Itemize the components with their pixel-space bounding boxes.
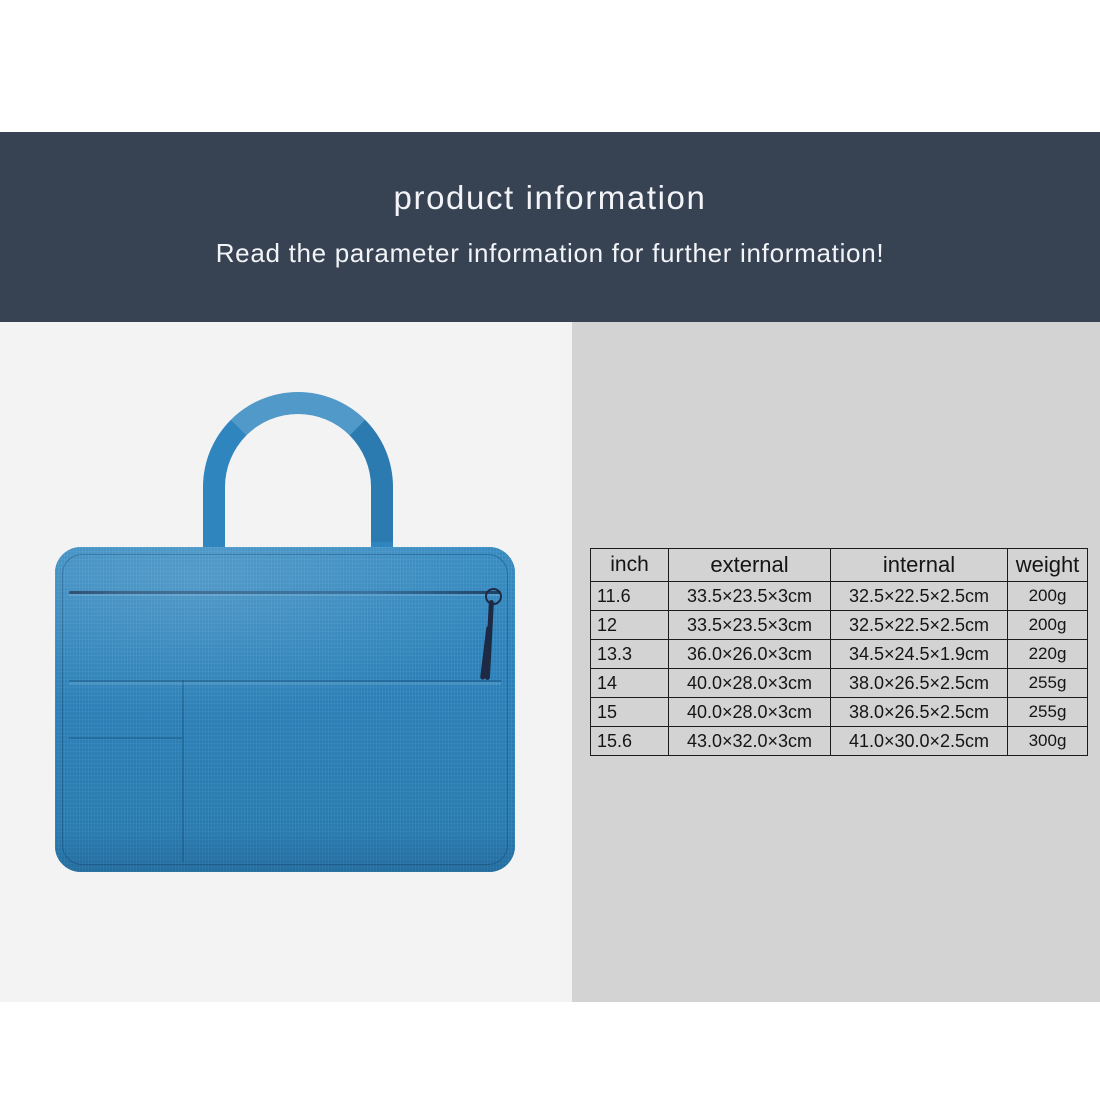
cell-internal: 34.5×24.5×1.9cm [831, 640, 1008, 669]
cell-external: 40.0×28.0×3cm [669, 669, 831, 698]
cell-weight: 300g [1008, 727, 1088, 756]
page-subtitle: Read the parameter information for furth… [0, 236, 1100, 270]
bag-piping-edge [62, 554, 508, 865]
header-banner: product information Read the parameter i… [0, 132, 1100, 322]
bag-pocket-divider-seam [182, 680, 184, 862]
table-row: 11.6 33.5×23.5×3cm 32.5×22.5×2.5cm 200g [591, 582, 1088, 611]
bag-top-zipper-seam [69, 591, 501, 594]
cell-weight: 255g [1008, 698, 1088, 727]
cell-weight: 200g [1008, 611, 1088, 640]
product-information-page: product information Read the parameter i… [0, 0, 1100, 1100]
cell-external: 40.0×28.0×3cm [669, 698, 831, 727]
product-image [0, 322, 572, 1002]
bag-body [55, 547, 515, 872]
cell-inch: 14 [591, 669, 669, 698]
cell-internal: 32.5×22.5×2.5cm [831, 582, 1008, 611]
table-row: 15 40.0×28.0×3cm 38.0×26.5×2.5cm 255g [591, 698, 1088, 727]
content-area: inch external internal weight 11.6 33.5×… [0, 322, 1100, 1002]
table-header-row: inch external internal weight [591, 549, 1088, 582]
specification-table: inch external internal weight 11.6 33.5×… [590, 548, 1088, 756]
cell-internal: 38.0×26.5×2.5cm [831, 698, 1008, 727]
table-row: 12 33.5×23.5×3cm 32.5×22.5×2.5cm 200g [591, 611, 1088, 640]
cell-weight: 220g [1008, 640, 1088, 669]
table-row: 13.3 36.0×26.0×3cm 34.5×24.5×1.9cm 220g [591, 640, 1088, 669]
cell-inch: 15.6 [591, 727, 669, 756]
cell-inch: 13.3 [591, 640, 669, 669]
page-title: product information [0, 178, 1100, 218]
spec-table-wrapper: inch external internal weight 11.6 33.5×… [590, 548, 1087, 756]
cell-external: 36.0×26.0×3cm [669, 640, 831, 669]
spec-table-head: inch external internal weight [591, 549, 1088, 582]
column-header-internal: internal [831, 549, 1008, 582]
cell-inch: 11.6 [591, 582, 669, 611]
spec-table-body: 11.6 33.5×23.5×3cm 32.5×22.5×2.5cm 200g … [591, 582, 1088, 756]
cell-external: 33.5×23.5×3cm [669, 611, 831, 640]
product-image-panel [0, 322, 572, 1002]
table-row: 14 40.0×28.0×3cm 38.0×26.5×2.5cm 255g [591, 669, 1088, 698]
cell-external: 43.0×32.0×3cm [669, 727, 831, 756]
cell-internal: 32.5×22.5×2.5cm [831, 611, 1008, 640]
column-header-weight: weight [1008, 549, 1088, 582]
bag-side-slot-seam [69, 737, 182, 739]
specification-panel: inch external internal weight 11.6 33.5×… [572, 322, 1100, 1002]
cell-internal: 41.0×30.0×2.5cm [831, 727, 1008, 756]
zipper-pull-icon [479, 588, 505, 684]
bag-front-pocket-seam [69, 680, 501, 682]
laptop-bag-illustration [55, 392, 515, 932]
column-header-external: external [669, 549, 831, 582]
table-row: 15.6 43.0×32.0×3cm 41.0×30.0×2.5cm 300g [591, 727, 1088, 756]
cell-weight: 255g [1008, 669, 1088, 698]
cell-external: 33.5×23.5×3cm [669, 582, 831, 611]
cell-weight: 200g [1008, 582, 1088, 611]
cell-internal: 38.0×26.5×2.5cm [831, 669, 1008, 698]
cell-inch: 15 [591, 698, 669, 727]
cell-inch: 12 [591, 611, 669, 640]
zipper-tab [485, 600, 494, 680]
column-header-inch: inch [591, 549, 669, 582]
